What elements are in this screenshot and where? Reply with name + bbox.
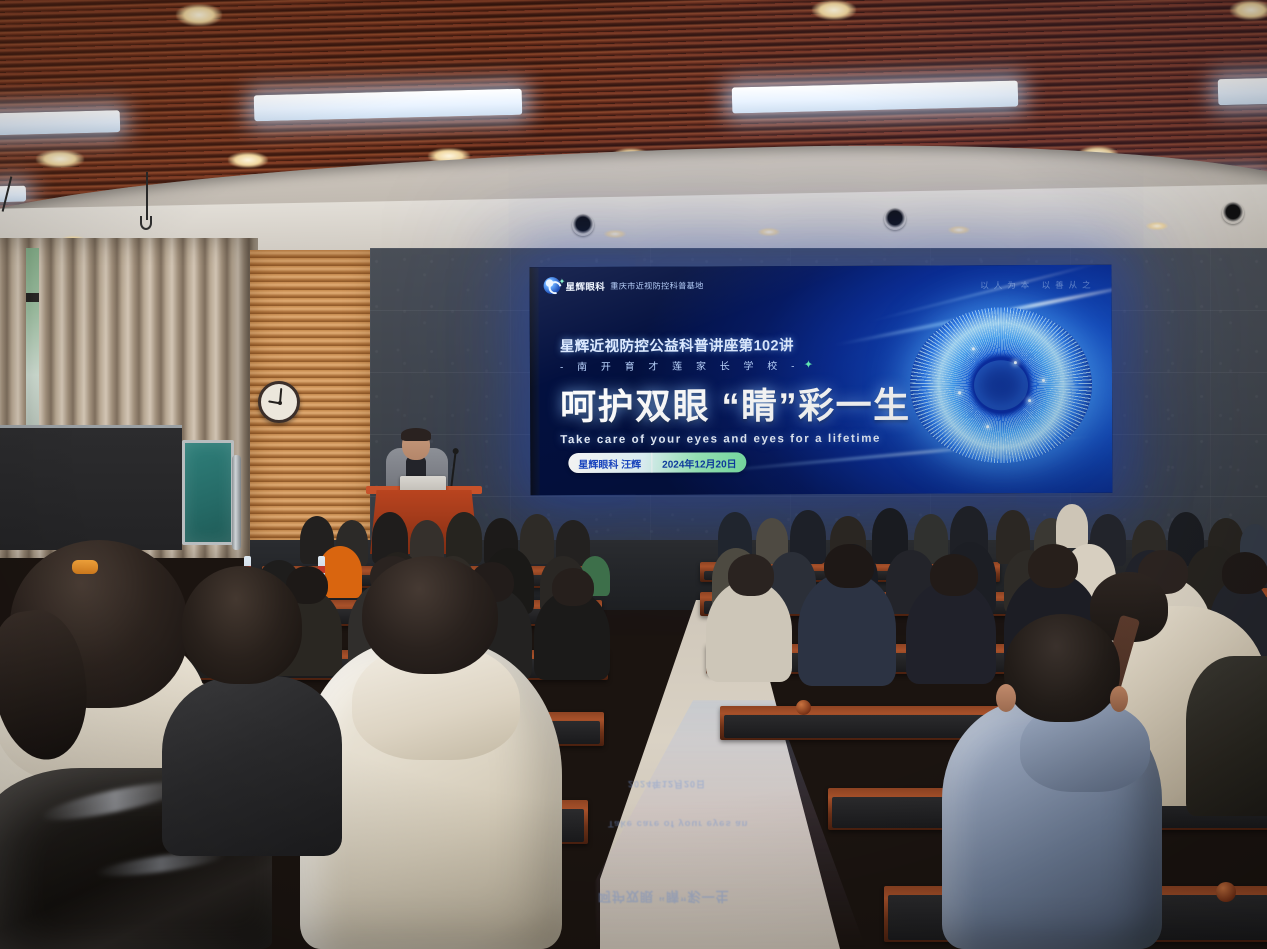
bench-knob bbox=[1216, 882, 1236, 902]
slide-subheadline: Take care of your eyes and eyes for a li… bbox=[560, 433, 911, 447]
brand-subtitle: 重庆市近视防控科普基地 bbox=[610, 279, 703, 291]
pendant-hook bbox=[140, 216, 152, 230]
ceiling-panel-light bbox=[1218, 77, 1267, 105]
starlight-eye-logo-icon: ✦ bbox=[544, 277, 561, 294]
school-line-text: - 南 开 育 才 莲 家 长 学 校 - bbox=[560, 357, 800, 373]
audience-head bbox=[552, 568, 594, 606]
ceiling-downlight bbox=[812, 0, 856, 20]
audience-head bbox=[930, 554, 978, 596]
presenter-hair bbox=[401, 428, 431, 441]
soffit-downlight bbox=[604, 230, 626, 238]
clock-center-pin bbox=[278, 401, 282, 405]
audience-head bbox=[182, 566, 302, 684]
iris-sparkle bbox=[986, 425, 989, 428]
ceiling-speaker-icon bbox=[1222, 202, 1244, 224]
audience-member bbox=[1186, 656, 1267, 816]
screen-corner-motto: 以人为本 以善从之 bbox=[980, 279, 1095, 292]
soffit-downlight bbox=[948, 226, 970, 234]
badge-date: 2024年12月20日 bbox=[651, 452, 747, 472]
ceiling-downlight bbox=[1230, 0, 1267, 20]
audience-member bbox=[1056, 504, 1088, 548]
led-presentation-screen[interactable]: ✦ 星辉眼科 重庆市近视防控科普基地 以人为本 以善从之 星辉近视防控公益科普讲… bbox=[530, 265, 1113, 496]
reflection-date-text: 2024年12月20日 bbox=[628, 778, 706, 791]
hair-tie bbox=[72, 560, 98, 574]
screen-left-bezel bbox=[530, 267, 541, 495]
soffit-downlight bbox=[758, 228, 780, 236]
wall-rail bbox=[232, 455, 241, 550]
iris-sparkle bbox=[1028, 399, 1031, 402]
iris-graphic bbox=[910, 307, 1093, 464]
audience-head bbox=[728, 554, 774, 596]
sparkle-icon: ✦ bbox=[804, 358, 813, 371]
eye-graphic bbox=[898, 297, 1105, 474]
ceiling-speaker-icon bbox=[572, 214, 594, 236]
ceiling-speaker-icon bbox=[884, 208, 906, 230]
soffit-downlight bbox=[1146, 222, 1168, 230]
sparkle-icon: ✦ bbox=[559, 278, 566, 286]
ceiling-panel-light bbox=[0, 110, 120, 136]
audience-head bbox=[824, 544, 874, 588]
reflection-subhead-text: Take care of your eyes an bbox=[608, 818, 748, 829]
badge-speaker: 星辉眼科 汪辉 bbox=[568, 453, 651, 473]
audience-head bbox=[1028, 544, 1078, 588]
brand-name: 星辉眼科 bbox=[566, 278, 606, 292]
green-chalkboard bbox=[182, 440, 234, 545]
audience-head bbox=[1222, 552, 1267, 594]
ear bbox=[996, 684, 1016, 712]
iris-sparkle bbox=[1014, 361, 1017, 364]
school-line: - 南 开 育 才 莲 家 长 学 校 - ✦ bbox=[560, 357, 911, 374]
ear bbox=[1110, 686, 1128, 712]
window-gap bbox=[26, 248, 39, 453]
iris-sparkle bbox=[1042, 379, 1045, 382]
wall-clock bbox=[258, 381, 300, 423]
wall-dark-panel bbox=[0, 425, 182, 550]
lecture-series-line: 星辉近视防控公益科普讲座第102讲 bbox=[560, 334, 911, 357]
pendant-wire bbox=[146, 172, 148, 220]
slide-text-block: 星辉近视防控公益科普讲座第102讲 - 南 开 育 才 莲 家 长 学 校 - … bbox=[560, 334, 911, 447]
iris-sparkle bbox=[958, 391, 961, 394]
audience-member bbox=[162, 676, 342, 856]
ceiling-downlight bbox=[176, 4, 222, 26]
reflection-headline-text: 呵护双眼 “睛”彩一生 bbox=[598, 888, 730, 907]
pupil bbox=[974, 360, 1028, 410]
ceiling-downlight bbox=[228, 152, 268, 168]
audience-head-boy bbox=[1004, 614, 1120, 722]
lecture-hall-photo: ✦ 星辉眼科 重庆市近视防控科普基地 以人为本 以善从之 星辉近视防控公益科普讲… bbox=[0, 0, 1267, 949]
speaker-date-badge: 星辉眼科 汪辉 2024年12月20日 bbox=[568, 452, 746, 473]
ceiling-downlight bbox=[36, 150, 84, 168]
audience-member bbox=[798, 572, 896, 686]
bench-knob bbox=[796, 700, 811, 715]
iris-sparkle bbox=[972, 347, 975, 350]
slide-headline: 呵护双眼 “睛”彩一生 bbox=[560, 377, 911, 431]
audience-head bbox=[362, 556, 498, 674]
brand-logo: ✦ 星辉眼科 重庆市近视防控科普基地 bbox=[544, 277, 704, 295]
